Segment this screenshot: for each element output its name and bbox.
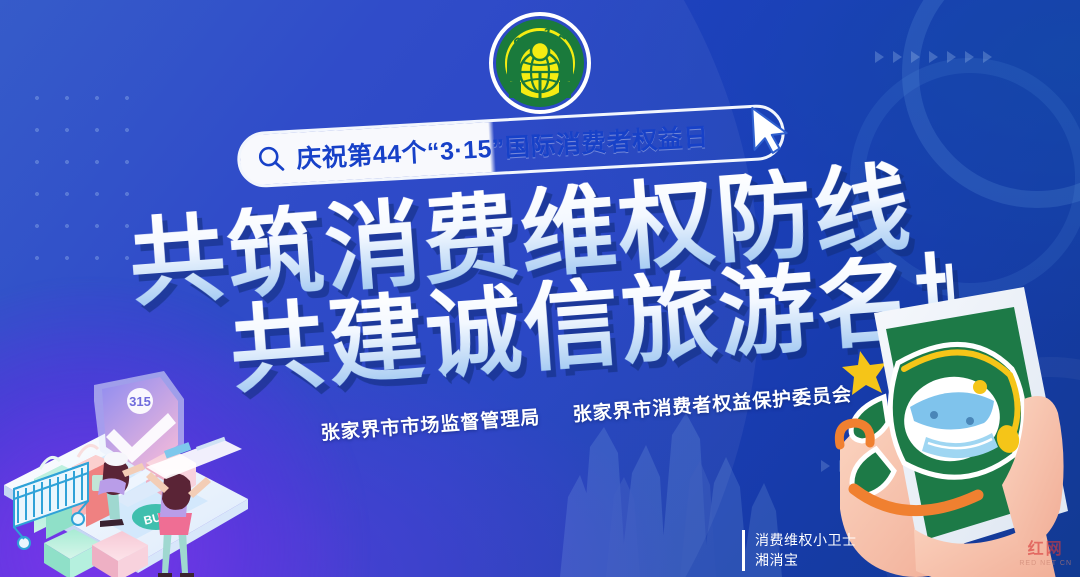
poster-banner: 3 · 1 5 庆祝第44个“3·15”国际消费者权益日 共筑消费维权防线 共建… [0,0,1080,577]
triangle-arrow-icon [875,51,884,63]
mascot-caption: 消费维权小卫士 湘消宝 [742,530,857,571]
315-logo-icon: 3 · 1 5 [489,12,591,114]
shield-badge-text: 315 [129,394,151,409]
cursor-arrow-icon [742,100,797,161]
organization-1: 张家界市市场监督管理局 [320,407,541,444]
triangle-arrow-icon [965,51,974,63]
triangle-arrow-icon [983,51,992,63]
star-icon [842,351,886,395]
organization-2: 张家界市消费者权益保护委员会 [572,385,853,426]
triangle-arrow-icon [929,51,938,63]
search-bar-text: 庆祝第44个“3·15”国际消费者权益日 [295,117,709,175]
mascot-caption-line-2: 湘消宝 [755,550,857,570]
search-icon [256,143,288,175]
triangle-arrow-icon [893,51,902,63]
organization-separator [547,421,567,422]
mascot-illustration [818,267,1080,577]
decor-dot-grid [16,76,136,266]
triangle-arrow-icon [947,51,956,63]
mascot-caption-line-1: 消费维权小卫士 [755,530,857,550]
triangle-arrow-icon [911,51,920,63]
decor-arrows-top-right [875,51,992,63]
shopping-illustration: 315 [0,367,266,577]
